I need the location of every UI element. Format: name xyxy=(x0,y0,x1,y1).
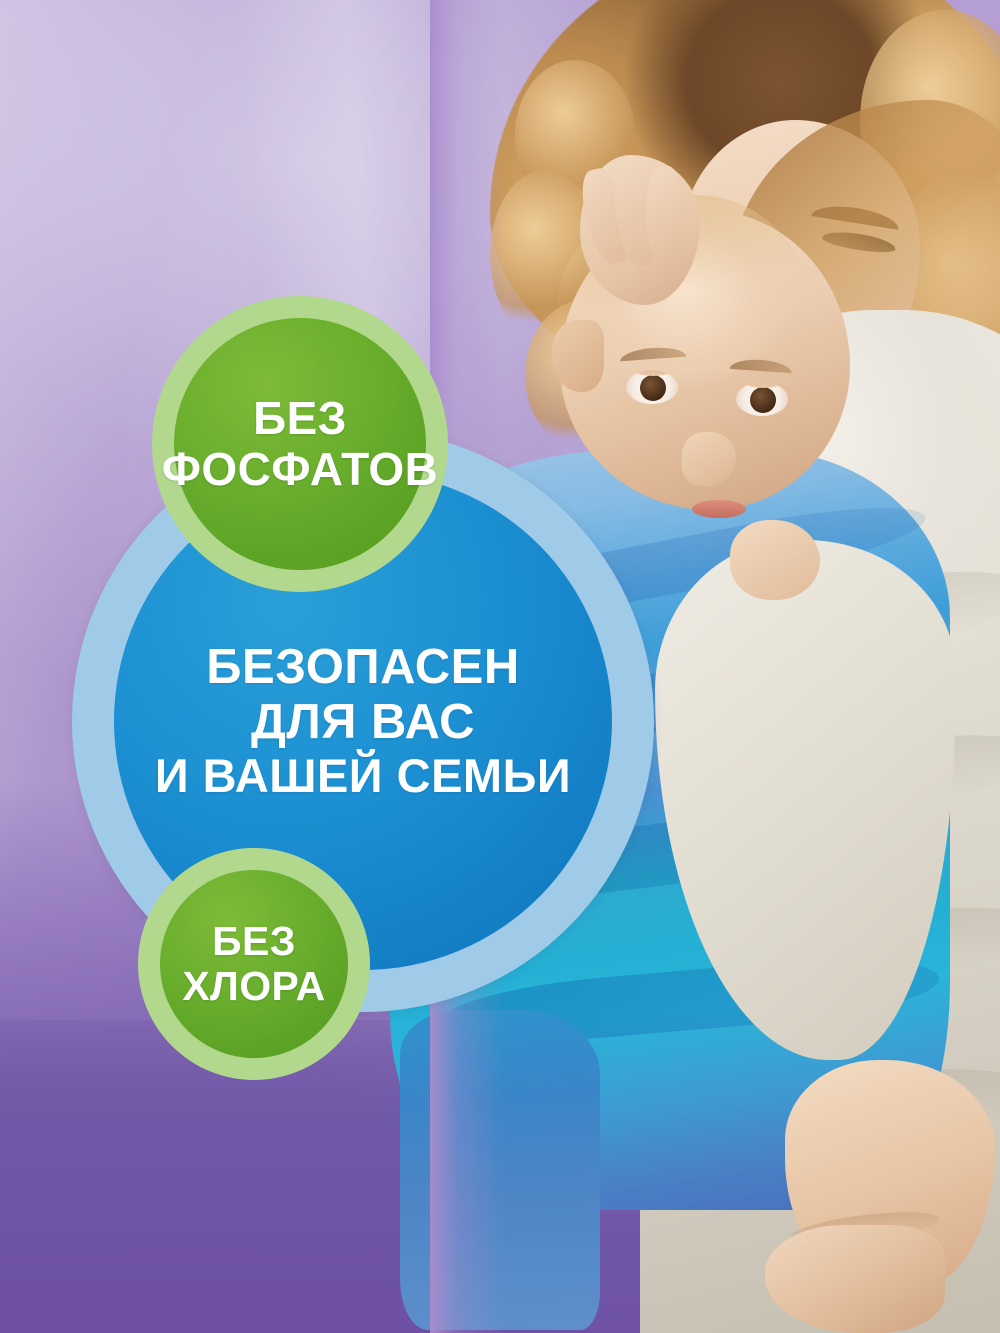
badge-no-phosphates-label: БЕЗ ФОСФАТОВ xyxy=(162,393,438,494)
badge-safe-for-family-label: БЕЗОПАСЕН ДЛЯ ВАС И ВАШЕЙ СЕМЬИ xyxy=(155,640,571,802)
badge-line-2: ХЛОРА xyxy=(182,964,325,1009)
badge-line-1: БЕЗ xyxy=(182,919,325,964)
baby-eye xyxy=(736,382,788,416)
baby-mouth xyxy=(692,500,746,518)
mother-finger xyxy=(645,166,685,267)
baby-iris xyxy=(750,387,776,413)
sling-tail xyxy=(400,1010,600,1330)
badge-no-chlorine[interactable]: БЕЗ ХЛОРА xyxy=(138,848,370,1080)
baby-ear xyxy=(552,320,604,392)
badge-line-1: БЕЗ xyxy=(162,393,438,444)
badge-no-chlorine-label: БЕЗ ХЛОРА xyxy=(182,919,325,1009)
badge-line-3: И ВАШЕЙ СЕМЬИ xyxy=(155,750,571,803)
badge-no-phosphates-fill: БЕЗ ФОСФАТОВ xyxy=(174,318,426,570)
badge-no-phosphates[interactable]: БЕЗ ФОСФАТОВ xyxy=(152,296,448,592)
product-promo-poster: БЕЗОПАСЕН ДЛЯ ВАС И ВАШЕЙ СЕМЬИ БЕЗ ФОСФ… xyxy=(0,0,1000,1333)
baby-hand xyxy=(730,520,820,600)
baby-foot xyxy=(765,1225,945,1333)
baby-eye xyxy=(626,370,678,404)
badge-no-chlorine-fill: БЕЗ ХЛОРА xyxy=(160,870,348,1058)
badge-line-2: ФОСФАТОВ xyxy=(162,444,438,495)
badge-line-1: БЕЗОПАСЕН xyxy=(155,640,571,695)
badge-line-2: ДЛЯ ВАС xyxy=(155,695,571,750)
baby-iris xyxy=(640,375,666,401)
